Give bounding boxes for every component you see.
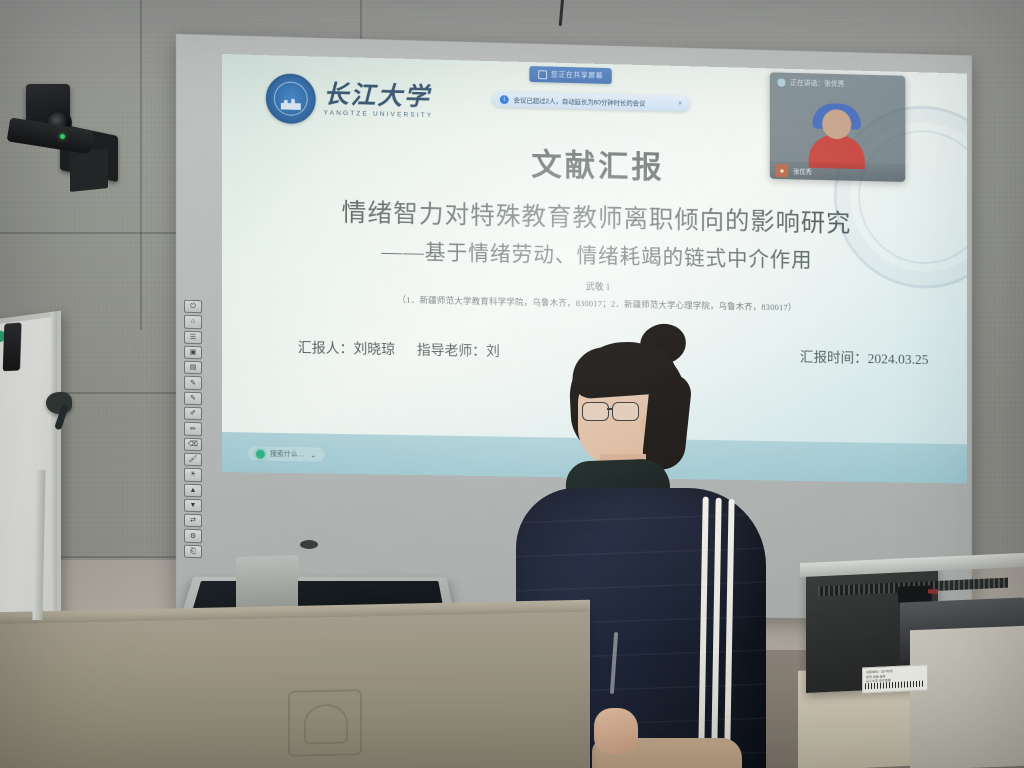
avatar-icon: ● [776, 164, 789, 177]
brush-tool-icon[interactable]: 🖌 [184, 453, 202, 467]
lens-left [582, 402, 609, 421]
lectern-camera-port [300, 540, 318, 549]
slide-date: 汇报时间：2024.03.25 [800, 347, 929, 369]
university-name-en: YANGTZE UNIVERSITY [324, 110, 434, 119]
meeting-notice-text: 会议已超过2人，自动延长为60分钟时长的会议 [514, 94, 646, 107]
meeting-video-tile[interactable]: 正在讲话：张优秀 ● 张优秀 [770, 72, 906, 182]
home-tool-icon[interactable]: ⌂ [184, 315, 202, 329]
eyeglasses-icon [582, 402, 642, 422]
more-icon[interactable]: ⌄ [310, 450, 317, 459]
highlighter-tool-icon[interactable]: ✏ [184, 422, 202, 436]
speaking-label: 正在讲话：张优秀 [790, 78, 844, 89]
camera-power-led-icon [60, 134, 65, 139]
menu-tool-icon[interactable]: ☰ [184, 330, 202, 344]
screen-share-banner[interactable]: 您正在共享屏幕 [529, 66, 612, 84]
close-icon[interactable]: × [678, 100, 682, 107]
asset-label: 设备编号／资产标签 型号 规格 编号 长江大学 资产管理 [862, 665, 928, 694]
pen-blue-tool-icon[interactable]: ✎ [184, 391, 202, 405]
whiteboard-eraser [3, 322, 22, 371]
university-name-cn: 长江大学 [324, 82, 434, 110]
stripe [724, 499, 735, 768]
right-desk-panel [910, 626, 1024, 768]
participant-name: 张优秀 [793, 166, 812, 176]
university-seal-icon [266, 73, 316, 124]
window-tool-icon[interactable]: ▤ [184, 361, 202, 375]
volume-down-tool-icon[interactable]: ▼ [184, 499, 202, 513]
whiteboard-frame-right [51, 311, 57, 633]
slide-advisor: 指导老师：刘 [417, 340, 500, 361]
usb-tool-icon[interactable]: ⎗ [184, 544, 202, 558]
lamp-tool-icon[interactable]: ☀ [184, 468, 202, 482]
whiteboard [0, 311, 61, 634]
meeting-notice-toast[interactable]: i 会议已超过2人，自动延长为60分钟时长的会议 × [492, 91, 690, 112]
slide-presenter: 汇报人：刘晓琼 [298, 337, 395, 359]
screenshot-root: ⏻⌂☰▣▤✎✎✐✏⌫🖌☀▲▼⇄⚙⎗ 长江大学 YANGTZE UNIVERSIT… [0, 0, 1024, 768]
source-tool-icon[interactable]: ▣ [184, 346, 202, 360]
podium-emblem [288, 689, 362, 757]
desktop-taskbar-pill[interactable]: 搜索什么… ⌄ [248, 446, 324, 461]
hair-side [641, 372, 693, 472]
meeting-tile-header: 正在讲话：张优秀 [770, 72, 906, 95]
ptz-camera [8, 72, 128, 187]
smartboard-side-toolbar[interactable]: ⏻⌂☰▣▤✎✎✐✏⌫🖌☀▲▼⇄⚙⎗ [182, 300, 204, 559]
lens-right [612, 402, 639, 421]
wall-seam [0, 232, 190, 234]
pen-red-tool-icon[interactable]: ✎ [184, 376, 202, 390]
volume-up-tool-icon[interactable]: ▲ [184, 483, 202, 497]
screen-share-icon [538, 70, 547, 79]
settings-tool-icon[interactable]: ⚙ [184, 529, 202, 543]
university-branding: 长江大学 YANGTZE UNIVERSITY [266, 73, 433, 127]
meeting-tile-footer: ● 张优秀 [770, 161, 906, 182]
camera-arm [7, 117, 96, 154]
slide-footer-left: 汇报人：刘晓琼 指导老师：刘 [298, 337, 500, 361]
taskbar-hint: 搜索什么… [270, 449, 305, 460]
pen-black-tool-icon[interactable]: ✐ [184, 407, 202, 421]
hand [594, 708, 638, 754]
university-name-block: 长江大学 YANGTZE UNIVERSITY [324, 82, 434, 119]
wall-seam [140, 0, 142, 330]
lectern-monitor-hinge [236, 555, 298, 611]
stripe [698, 497, 709, 768]
camera-bracket-plate [70, 148, 108, 192]
eraser-tool-icon[interactable]: ⌫ [184, 437, 202, 451]
screen-share-label: 您正在共享屏幕 [551, 70, 603, 81]
power-tool-icon[interactable]: ⏻ [184, 300, 202, 314]
info-icon: i [500, 95, 509, 104]
avatar-head [822, 109, 851, 139]
input-tool-icon[interactable]: ⇄ [184, 514, 202, 528]
microphone-icon [778, 78, 786, 86]
recording-dot-icon [256, 449, 265, 458]
stripe [711, 498, 722, 768]
